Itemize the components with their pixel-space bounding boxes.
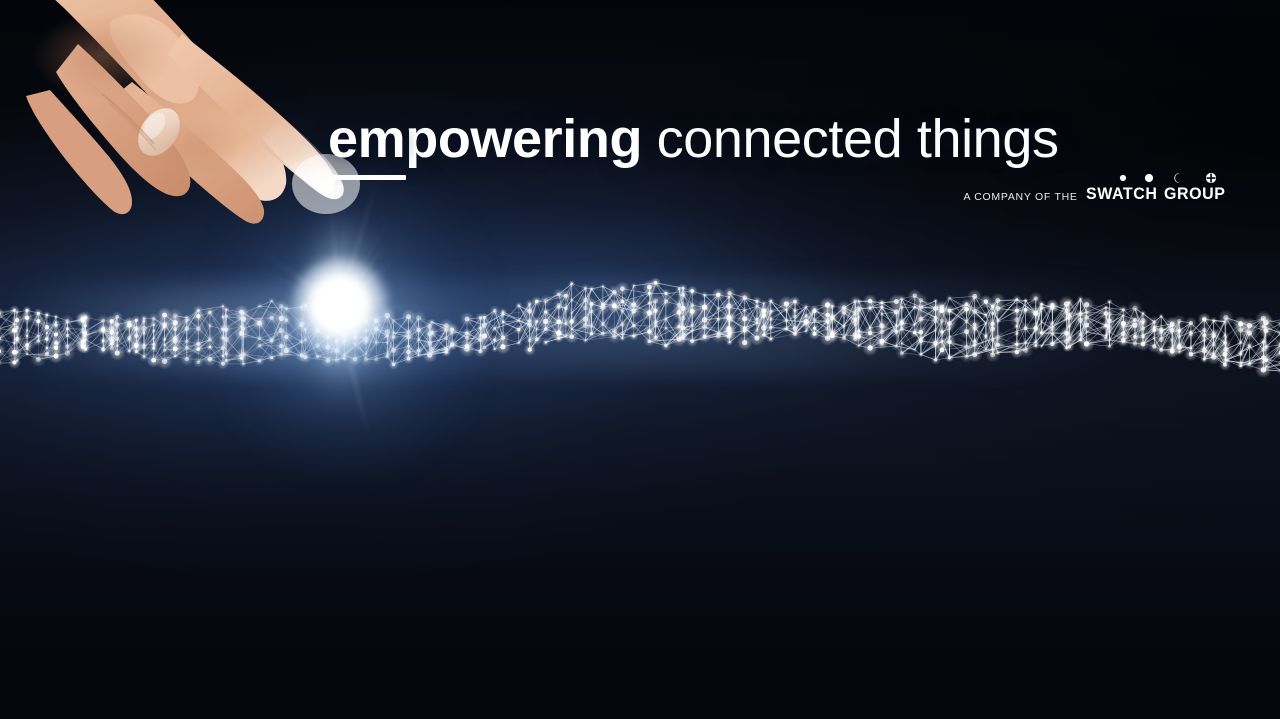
moon-phase-icon-row bbox=[1118, 172, 1218, 184]
swatch-group-logo[interactable]: A COMPANY OF THE SWATCHGROUP bbox=[963, 184, 1234, 204]
swatch-word: SWATCH bbox=[1086, 184, 1157, 203]
connected-network-mesh bbox=[0, 268, 1280, 386]
headline-underlined-em: em bbox=[328, 109, 405, 169]
hero-banner: empowering connected things A COMPANY OF… bbox=[0, 0, 1280, 719]
headline-bold-part: empowering bbox=[328, 109, 642, 169]
moon-quarter-dot-icon bbox=[1145, 174, 1153, 182]
swatch-wordmark-group: SWATCHGROUP bbox=[1086, 184, 1234, 204]
headline-light-part: connected things bbox=[642, 109, 1059, 169]
page-title: empowering connected things bbox=[328, 112, 1059, 166]
moon-new-dot-icon bbox=[1120, 175, 1126, 181]
headline-bold-rest: powering bbox=[405, 109, 642, 169]
moon-full-cross-icon bbox=[1206, 173, 1216, 183]
group-word: GROUP bbox=[1164, 184, 1225, 203]
company-of-the-label: A COMPANY OF THE bbox=[963, 191, 1077, 204]
swatch-group-wordmark: SWATCHGROUP bbox=[1086, 184, 1225, 204]
moon-crescent-icon bbox=[1174, 173, 1180, 183]
